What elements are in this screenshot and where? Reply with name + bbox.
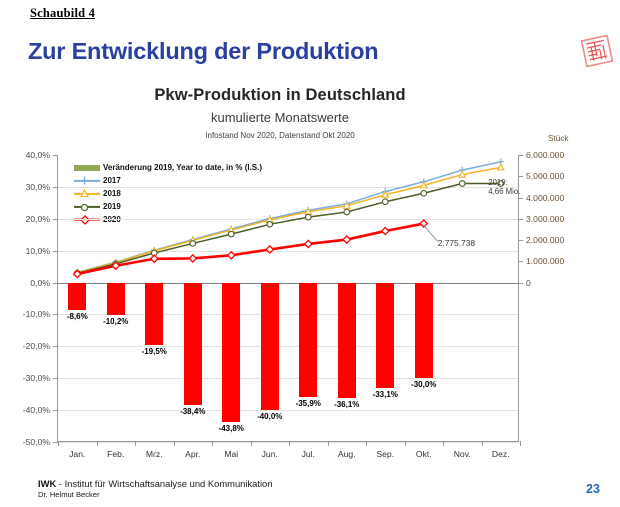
y-axis-label-right: 1.000.000 [526,256,564,266]
data-point-2019 [190,241,196,247]
y-axis-label-left: 10,0% [26,246,50,256]
annotation-leader-line [424,226,438,242]
annotation-2020-value: 2.775.738 [438,238,475,248]
data-point-2019 [459,181,465,187]
y-axis-label-right: 3.000.000 [526,214,564,224]
y-axis-label-right: 5.000.000 [526,171,564,181]
footer-author: Dr. Helmut Becker [38,490,100,499]
x-axis-label: Feb. [107,449,124,459]
x-axis-label: Dez. [492,449,510,459]
data-point-2019 [382,199,388,205]
x-axis-label: Jul. [302,449,315,459]
data-point-2019 [344,209,350,215]
x-axis-label: Nov. [454,449,471,459]
x-axis-label: Mai [224,449,238,459]
slide-title: Zur Entwicklung der Produktion [28,38,378,65]
x-axis-label: Jan. [69,449,85,459]
y-axis-label-left: -30,0% [23,373,50,383]
x-axis-label: Apr. [185,449,200,459]
x-axis-tick [520,441,521,446]
y-axis-label-left: 20,0% [26,214,50,224]
data-point-2020 [305,240,312,247]
data-point-2020 [189,255,196,262]
footer-organisation: IWK - Institut für Wirtschaftsanalyse un… [38,478,272,489]
data-point-2020 [151,255,158,262]
y-axis-label-left: -40,0% [23,405,50,415]
footer-org-name: - Institut für Wirtschaftsanalyse und Ko… [59,478,273,489]
plot-area: Veränderung 2019, Year to date, in % (l.… [57,155,519,442]
y-axis-label-left: 0,0% [30,278,50,288]
data-point-2019 [421,190,427,196]
x-axis-label: Jun. [262,449,278,459]
y-axis-label-right: 0 [526,278,531,288]
data-point-2019 [305,214,311,220]
slide-label: Schaubild 4 [30,6,95,21]
y-axis-label-right: 6.000.000 [526,150,564,160]
slide: Schaubild 4 Zur Entwicklung der Produkti… [0,0,620,507]
line-series-2017 [77,162,501,273]
x-axis-label: Aug. [338,449,356,459]
right-axis-unit-label: Stück [548,134,568,143]
x-axis-label: Okt. [416,449,432,459]
y-axis-label-right: 4.000.000 [526,193,564,203]
y-axis-label-left: -50,0% [23,437,50,447]
chart-subtitle: kumulierte Monatswerte [0,110,560,125]
data-point-2020 [228,252,235,259]
y-axis-label-left: -20,0% [23,341,50,351]
iwk-square-logo [579,33,615,69]
annotation-2019-line2: 4,66 Mio. [488,188,520,197]
data-point-2020 [343,236,350,243]
x-axis-label: Mrz. [146,449,163,459]
x-axis-label: Sep. [376,449,394,459]
chart-info-note: Infostand Nov 2020, Datenstand Okt 2020 [0,131,560,140]
lines-layer [58,155,520,442]
footer-org-abbr: IWK [38,478,56,489]
data-point-2020 [266,246,273,253]
chart-title: Pkw-Produktion in Deutschland [0,86,560,105]
y-axis-label-right: 2.000.000 [526,235,564,245]
gridline [58,442,518,443]
data-point-2020 [382,227,389,234]
data-point-2019 [267,222,273,228]
chart: Pkw-Produktion in Deutschland kumulierte… [0,86,620,456]
line-series-2020 [77,224,424,274]
annotation-2019: 2019: 4,66 Mio. [488,179,520,197]
y-axis-label-left: 30,0% [26,182,50,192]
data-point-2019 [228,231,234,237]
y-axis-label-left: -10,0% [23,309,50,319]
line-series-2019 [77,183,501,273]
y-axis-label-left: 40,0% [26,150,50,160]
page-number: 23 [586,482,600,496]
